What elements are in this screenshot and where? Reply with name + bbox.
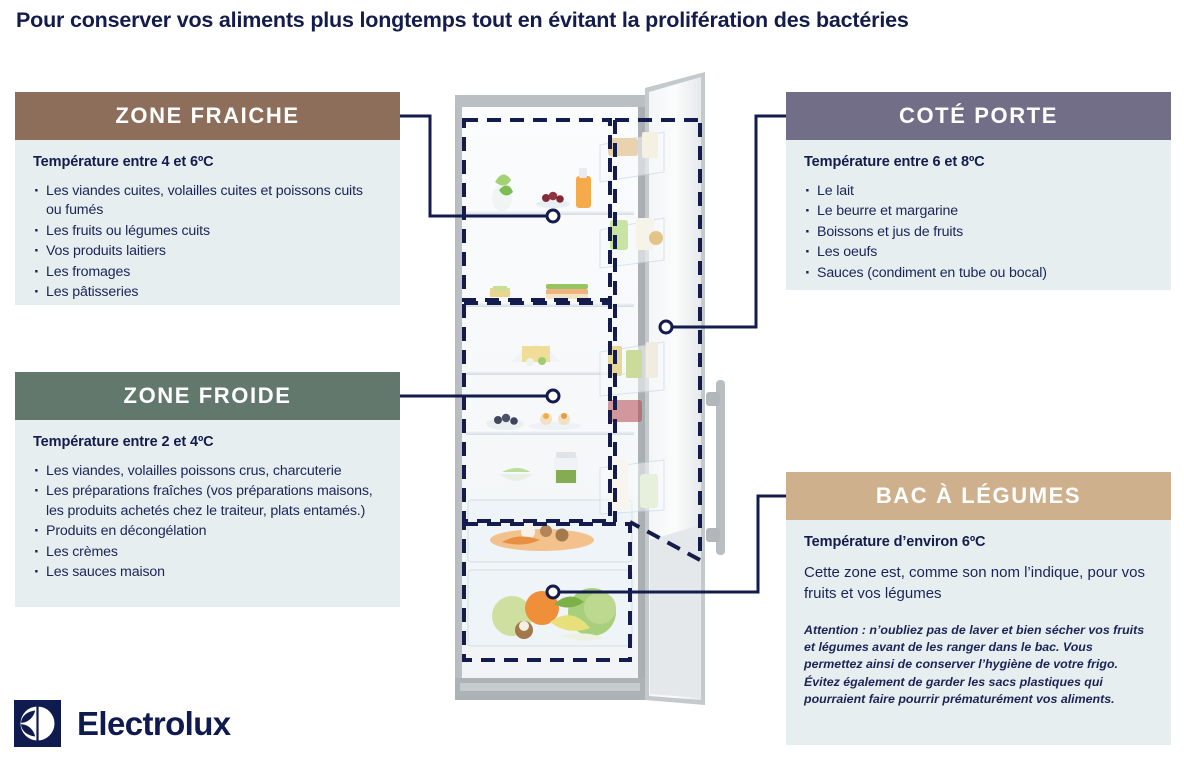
zone-froide-list: Les viandes, volailles poissons crus, ch…: [33, 462, 382, 582]
list-item: Le beurre et margarine: [804, 202, 1153, 221]
refrigerator-illustration: [450, 70, 750, 720]
panel-cote-porte-body: Température entre 6 et 8ºC Le lait Le be…: [786, 140, 1171, 290]
page-title: Pour conserver vos aliments plus longtem…: [16, 8, 1136, 33]
panel-zone-froide-heading: ZONE FROIDE: [15, 372, 400, 420]
brand-logo: Electrolux: [14, 700, 231, 747]
list-item: Produits en décongélation: [33, 522, 382, 541]
zone-fraiche-temperature: Température entre 4 et 6ºC: [33, 154, 382, 170]
list-item: Les fromages: [33, 263, 382, 282]
brand-name: Electrolux: [77, 705, 231, 743]
panel-zone-fraiche-body: Température entre 4 et 6ºC Les viandes c…: [15, 140, 400, 305]
list-item: Les oeufs: [804, 243, 1153, 262]
list-item: Vos produits laitiers: [33, 242, 382, 261]
panel-zone-fraiche: ZONE FRAICHE Température entre 4 et 6ºC …: [15, 92, 400, 305]
bac-a-legumes-paragraph: Cette zone est, comme son nom l’indique,…: [804, 562, 1153, 604]
zone-froide-temperature: Température entre 2 et 4ºC: [33, 434, 382, 450]
list-item: Les préparations fraîches (vos préparati…: [33, 482, 382, 521]
list-item: Les sauces maison: [33, 563, 382, 582]
list-item: Les viandes cuites, volailles cuites et …: [33, 182, 382, 221]
panel-zone-fraiche-heading: ZONE FRAICHE: [15, 92, 400, 140]
panel-bac-a-legumes-body: Température d’environ 6ºC Cette zone est…: [786, 520, 1171, 745]
list-item: Sauces (condiment en tube ou bocal): [804, 264, 1153, 283]
list-item: Les fruits ou légumes cuits: [33, 222, 382, 241]
panel-bac-a-legumes-heading: BAC À LÉGUMES: [786, 472, 1171, 520]
bac-a-legumes-note: Attention : n’oubliez pas de laver et bi…: [804, 622, 1153, 708]
panel-bac-a-legumes: BAC À LÉGUMES Température d’environ 6ºC …: [786, 472, 1171, 745]
electrolux-logo-icon: [14, 700, 61, 747]
panel-cote-porte-heading: COTÉ PORTE: [786, 92, 1171, 140]
cote-porte-temperature: Température entre 6 et 8ºC: [804, 154, 1153, 170]
list-item: Les crèmes: [33, 543, 382, 562]
panel-zone-froide-body: Température entre 2 et 4ºC Les viandes, …: [15, 420, 400, 607]
zone-fraiche-list: Les viandes cuites, volailles cuites et …: [33, 182, 382, 302]
panel-cote-porte: COTÉ PORTE Température entre 6 et 8ºC Le…: [786, 92, 1171, 290]
list-item: Les pâtisseries: [33, 283, 382, 302]
list-item: Le lait: [804, 182, 1153, 201]
list-item: Les viandes, volailles poissons crus, ch…: [33, 462, 382, 481]
infographic-root: Pour conserver vos aliments plus longtem…: [0, 0, 1184, 764]
cote-porte-list: Le lait Le beurre et margarine Boissons …: [804, 182, 1153, 283]
bac-a-legumes-temperature: Température d’environ 6ºC: [804, 534, 1153, 550]
panel-zone-froide: ZONE FROIDE Température entre 2 et 4ºC L…: [15, 372, 400, 607]
list-item: Boissons et jus de fruits: [804, 223, 1153, 242]
